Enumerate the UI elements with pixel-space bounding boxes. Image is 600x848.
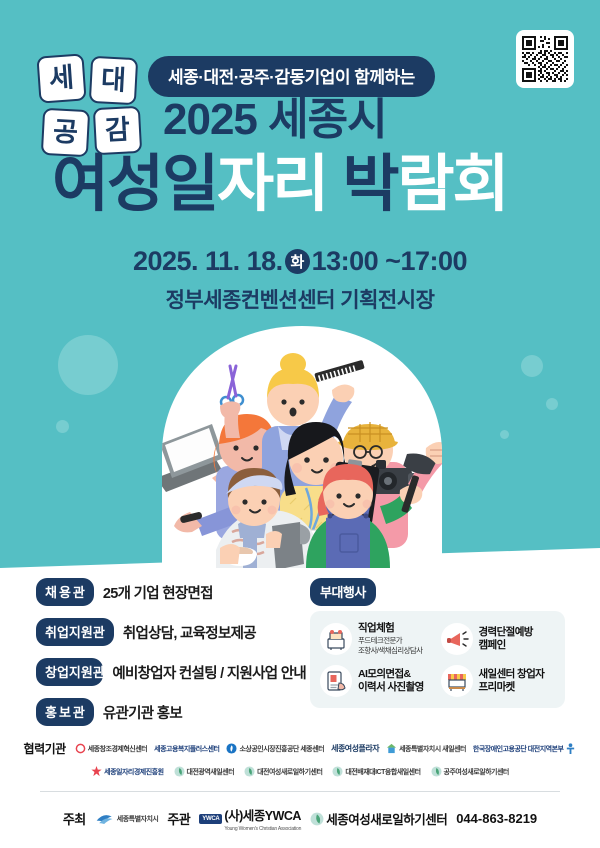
side-events-grid: 직업체험 푸드테크전문가조향사/색채심리상담사 경력단절예방캠페인 [310, 611, 565, 708]
program-tag: 홍보관 [36, 698, 94, 726]
program-text: 예비창업자 컨설팅 / 지원사업 안내 [112, 662, 306, 683]
partner-name: 공주여성새로일하기센터 [444, 767, 509, 777]
partner-logo: 대전여성새로일하기센터 [244, 766, 322, 777]
partner-name: 대전여성새로일하기센터 [257, 767, 322, 777]
subtitle-pill: 세종·대전·공주·감동기업이 함께하는 [148, 56, 435, 97]
host-label: 주최 [63, 809, 86, 828]
side-event-sub: 푸드테크전문가조향사/색채심리상담사 [358, 636, 422, 656]
partner-name: 세종여성플라자 [331, 743, 379, 754]
partner-logo: 공주여성새로일하기센터 [431, 766, 509, 777]
decorative-circle [56, 420, 69, 433]
program-row: 채용관 25개 기업 현장면접 [36, 578, 306, 606]
side-event-title: 직업체험 [358, 622, 422, 635]
partners-label: 협력기관 [24, 740, 66, 757]
ywca-logo: YWCA (사)세종YWCA Young Women's Christian A… [199, 805, 301, 832]
ring-mark-icon [75, 743, 86, 754]
program-text: 취업상담, 교육정보제공 [123, 622, 256, 643]
partner-logo: 세종고용복지플러스센터 [154, 744, 219, 754]
section-divider [40, 791, 560, 792]
partner-name: 세종특별자치시 새일센터 [399, 744, 466, 754]
badge-char-1: 세 [36, 53, 86, 103]
center-name: 세종여성새로일하기센터 [326, 809, 447, 828]
partner-name: 대전광역새일센터 [187, 767, 235, 777]
partner-logo: 세종여성플라자 [331, 743, 379, 754]
hosts-section: 주최 세종특별자치시 주관 YWCA (사)세종YWCA Young Women… [0, 805, 600, 832]
side-event-text: AI모의면접&이력서 사진촬영 [358, 668, 424, 694]
event-venue: 정부세종컨벤션센터 기획전시장 [0, 284, 600, 314]
program-row: 홍보관 유관기관 홍보 [36, 698, 306, 726]
contact-phone: 044-863-8219 [456, 811, 537, 826]
partner-name: 대전배재대ICT융합새일센터 [345, 767, 420, 777]
leaf-mark-icon [244, 766, 255, 777]
organizer-name-block: (사)세종YWCA Young Women's Christian Associ… [224, 805, 301, 832]
semas-mark-icon [226, 743, 237, 754]
side-event-text: 직업체험 푸드테크전문가조향사/색채심리상담사 [358, 622, 422, 656]
side-event-title: AI모의면접&이력서 사진촬영 [358, 668, 424, 694]
side-events-heading: 부대행사 [310, 578, 376, 606]
ywca-subtitle: Young Women's Christian Association [224, 826, 301, 832]
partners-row-1: 협력기관 세종창조경제혁신센터 세종고용복지플러스센터 소상공인시장진흥공단 세… [0, 740, 600, 757]
leaf-mark-icon [332, 766, 343, 777]
partner-logo: 한국장애인고용공단 대전지역본부 [473, 743, 577, 754]
side-event-item: 새일센터 창업자프리마켓 [441, 665, 558, 697]
partners-row-2: 세종일자리경제진흥원 대전광역새일센터 대전여성새로일하기센터 대전배재대ICT… [0, 766, 600, 777]
partner-logo: 대전배재대ICT융합새일센터 [332, 766, 420, 777]
partner-logo: 세종특별자치시 새일센터 [386, 743, 466, 754]
event-day-chip: 화 [285, 249, 310, 274]
partners-section: 협력기관 세종창조경제혁신센터 세종고용복지플러스센터 소상공인시장진흥공단 세… [0, 740, 600, 777]
program-row: 취업지원관 취업상담, 교육정보제공 [36, 618, 306, 646]
leaf-mark-icon [310, 812, 324, 826]
program-tag: 취업지원관 [36, 618, 114, 646]
program-text: 25개 기업 현장면접 [103, 582, 213, 603]
badge-char-2: 대 [89, 56, 138, 105]
star-mark-icon [91, 766, 102, 777]
side-event-title: 새일센터 창업자프리마켓 [479, 668, 545, 694]
title-part-5: 람회 [398, 150, 508, 219]
decorative-circle [546, 398, 558, 410]
program-tag: 창업지원관 [36, 658, 103, 686]
sejong-city-logo: 세종특별자치시 [95, 810, 159, 828]
side-event-text: 새일센터 창업자프리마켓 [479, 668, 545, 694]
booth-icon [320, 623, 352, 655]
side-event-item: AI모의면접&이력서 사진촬영 [320, 665, 437, 697]
qr-code[interactable] [516, 30, 574, 88]
partner-name: 소상공인시장진흥공단 세종센터 [239, 744, 324, 754]
side-event-item: 직업체험 푸드테크전문가조향사/색채심리상담사 [320, 622, 437, 656]
badge-char-4: 감 [93, 106, 142, 155]
program-row: 창업지원관 예비창업자 컨설팅 / 지원사업 안내 [36, 658, 306, 686]
title-line-2: 여성일자리 박람회 [52, 152, 508, 217]
leaf-mark-icon [174, 766, 185, 777]
title-line-1: 2025 세종시 [163, 98, 387, 142]
market-stall-icon [441, 665, 473, 697]
event-datetime: 2025. 11. 18.화13:00 ~17:00 [0, 246, 600, 277]
title-part-1: 여성일 [52, 150, 217, 219]
side-event-text: 경력단절예방캠페인 [479, 626, 533, 652]
partner-logo: 세종일자리경제진흥원 [91, 766, 163, 777]
program-text: 유관기관 홍보 [103, 702, 182, 723]
program-tag: 채용관 [36, 578, 94, 606]
megaphone-icon [441, 623, 473, 655]
leaf-mark-icon [431, 766, 442, 777]
poster-root: 세 대 공 감 세종·대전·공주·감동기업이 함께하는 2025 세종시 여성일… [0, 0, 600, 848]
side-event-item: 경력단절예방캠페인 [441, 622, 558, 656]
saeil-center-logo: 세종여성새로일하기센터 [310, 809, 447, 828]
sejong-wing-icon [95, 810, 115, 828]
partner-name: 세종창조경제혁신센터 [88, 744, 147, 754]
side-event-title: 경력단절예방캠페인 [479, 626, 533, 652]
host-name: 세종특별자치시 [117, 814, 159, 824]
title-part-3 [327, 150, 342, 219]
ywca-mark: YWCA [199, 814, 222, 824]
sedae-gonggam-badge: 세 대 공 감 [38, 55, 142, 159]
partner-name: 세종고용복지플러스센터 [154, 744, 219, 754]
partner-logo: 세종창조경제혁신센터 [75, 743, 147, 754]
partner-name: 한국장애인고용공단 대전지역본부 [473, 744, 564, 754]
resume-photo-icon [320, 665, 352, 697]
title-part-4: 박 [342, 150, 397, 219]
event-time: 13:00 ~17:00 [312, 246, 467, 276]
organizer-label: 주관 [167, 809, 190, 828]
side-events: 부대행사 직업체험 푸드테크전문가조향사/색채심리상담사 [310, 578, 565, 708]
program-list: 채용관 25개 기업 현장면접 취업지원관 취업상담, 교육정보제공 창업지원관… [36, 578, 306, 738]
event-date: 2025. 11. 18. [133, 246, 283, 276]
qr-code-icon [522, 36, 568, 82]
partner-logo: 소상공인시장진흥공단 세종센터 [226, 743, 324, 754]
title-part-2: 자리 [217, 150, 327, 219]
decorative-circle [500, 430, 509, 439]
organizer-name: (사)세종YWCA [224, 809, 301, 823]
kead-mark-icon [565, 743, 576, 754]
decorative-circle [58, 335, 118, 395]
house-mark-icon [386, 743, 397, 754]
partner-logo: 대전광역새일센터 [174, 766, 235, 777]
people-illustration [120, 318, 485, 568]
decorative-circle [521, 355, 543, 377]
partner-name: 세종일자리경제진흥원 [104, 767, 163, 777]
